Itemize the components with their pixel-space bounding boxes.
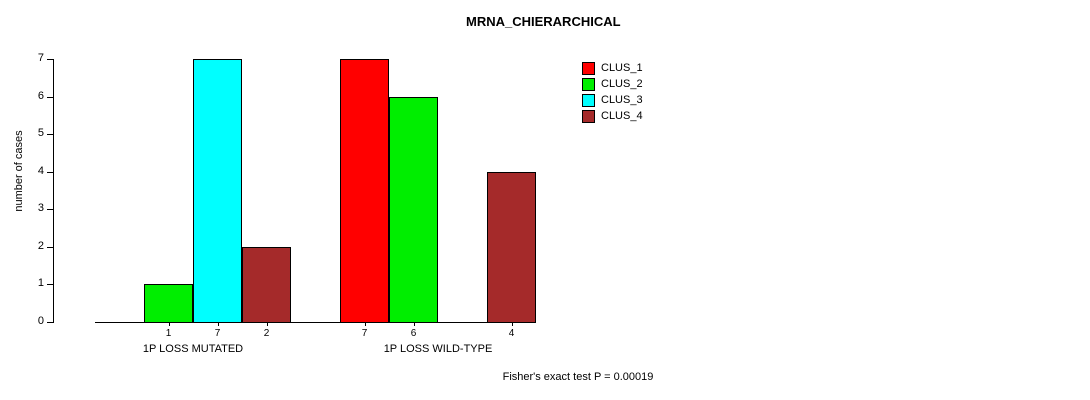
x-tick-mark [365, 322, 366, 326]
y-tick-mark [47, 247, 53, 248]
y-tick-label: 7 [24, 53, 44, 64]
bar-value-label: 4 [492, 328, 532, 340]
y-tick-label: 6 [24, 91, 44, 102]
x-tick-mark [414, 322, 415, 326]
legend-item: CLUS_3 [582, 92, 643, 108]
legend-label: CLUS_3 [601, 94, 643, 107]
y-tick-mark [47, 97, 53, 98]
y-tick-mark [47, 134, 53, 135]
y-tick-label: 0 [24, 316, 44, 327]
bar-value-label: 7 [345, 328, 385, 340]
bar [193, 59, 242, 323]
legend-color-swatch [582, 110, 595, 123]
y-tick-label: 2 [24, 241, 44, 252]
bar [242, 247, 291, 323]
y-tick-mark [47, 209, 53, 210]
y-tick-label: 3 [24, 203, 44, 214]
y-tick-mark [47, 322, 53, 323]
legend-color-swatch [582, 62, 595, 75]
y-tick-mark [47, 172, 53, 173]
group-axis-label: 1P LOSS MUTATED [73, 343, 313, 356]
legend-item: CLUS_1 [582, 60, 643, 76]
y-tick-label: 1 [24, 278, 44, 289]
x-tick-mark [218, 322, 219, 326]
x-tick-mark [169, 322, 170, 326]
legend-label: CLUS_1 [601, 62, 643, 75]
y-axis-label: number of cases [13, 116, 25, 226]
legend-color-swatch [582, 94, 595, 107]
y-tick-label: 4 [24, 166, 44, 177]
page-title: MRNA_CHIERARCHICAL [466, 14, 621, 29]
statistics-annotation: Fisher's exact test P = 0.00019 [378, 371, 778, 383]
y-tick-mark [47, 59, 53, 60]
bar-value-label: 2 [247, 328, 287, 340]
legend-item: CLUS_4 [582, 108, 643, 124]
bar-value-label: 1 [149, 328, 189, 340]
bar [144, 284, 193, 323]
bar [389, 97, 438, 323]
bar-value-label: 7 [198, 328, 238, 340]
group-axis-label: 1P LOSS WILD-TYPE [318, 343, 558, 356]
y-tick-label: 5 [24, 128, 44, 139]
y-tick-mark [47, 284, 53, 285]
bar-value-label: 6 [394, 328, 434, 340]
legend-item: CLUS_2 [582, 76, 643, 92]
legend-color-swatch [582, 78, 595, 91]
bar [487, 172, 536, 323]
x-tick-mark [512, 322, 513, 326]
legend-label: CLUS_4 [601, 110, 643, 123]
x-tick-mark [267, 322, 268, 326]
legend: CLUS_1CLUS_2CLUS_3CLUS_4 [582, 60, 643, 124]
y-axis-line [53, 59, 54, 323]
bar [340, 59, 389, 323]
barplot-figure: MRNA_CHIERARCHICAL 01234567 number of ca… [0, 0, 1090, 400]
legend-label: CLUS_2 [601, 78, 643, 91]
